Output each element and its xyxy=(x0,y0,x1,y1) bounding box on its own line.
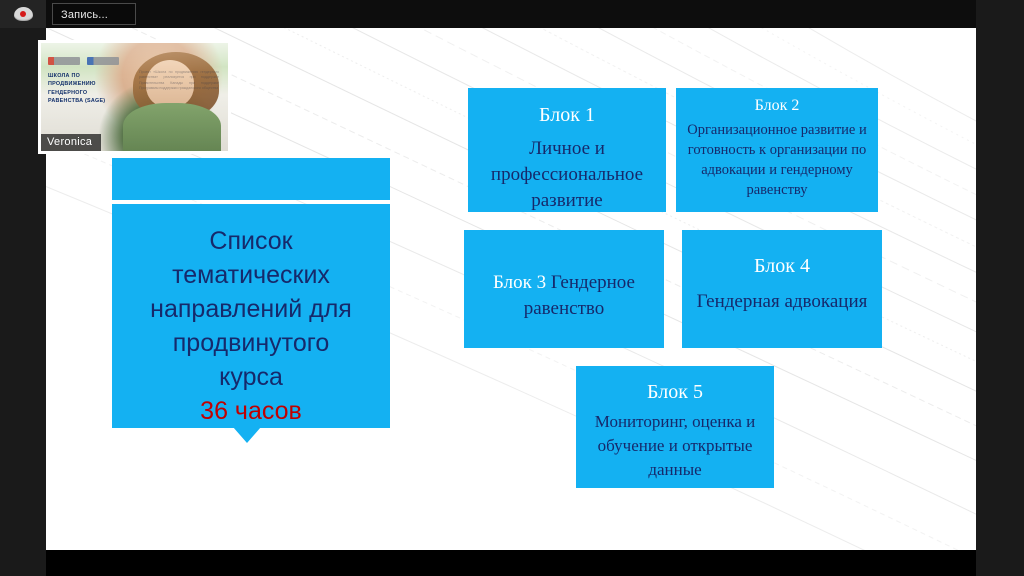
callout-line-3: направлений для xyxy=(150,295,352,323)
block-2-card: Блок 2 Организационное развитие и готовн… xyxy=(676,88,878,212)
participant-name-label: Veronica xyxy=(41,134,101,151)
block-5-text: Мониторинг, оценка и обучение и открытые… xyxy=(595,412,755,479)
shared-slide-body: Проект «Школа по продвижению гендерного … xyxy=(139,70,219,108)
callout-header-bar xyxy=(112,158,390,200)
block-2-text: Организационное развитие и готовность к … xyxy=(687,122,867,198)
canada-logo-icon xyxy=(48,57,80,65)
block-1-text: Личное и профессиональное развитие xyxy=(491,138,643,211)
sponsor-logos xyxy=(48,57,119,65)
block-3-card: Блок 3 Гендерное равенство xyxy=(464,230,664,348)
block-4-title: Блок 4 xyxy=(682,252,882,280)
webcam-video-tile[interactable]: ШКОЛА ПО ПРОДВИЖЕНИЮ ГЕНДЕРНОГО РАВЕНСТВ… xyxy=(38,40,231,154)
screen-share-window: Запись... xyxy=(0,0,1024,576)
callout-hours: 36 часов xyxy=(122,394,380,428)
block-5-card: Блок 5 Мониторинг, оценка и обучение и о… xyxy=(576,366,774,488)
block-5-title: Блок 5 xyxy=(576,380,774,404)
callout-box: Список тематических направлений для прод… xyxy=(112,204,390,428)
callout-line-4: продвинутого xyxy=(173,329,329,357)
callout-line-2: тематических xyxy=(172,261,330,289)
block-1-card: Блок 1 Личное и профессиональное развити… xyxy=(468,88,666,212)
block-1-title: Блок 1 xyxy=(468,102,666,128)
block-2-title: Блок 2 xyxy=(676,96,878,116)
window-top-band xyxy=(0,0,1024,28)
recording-status-label: Запись... xyxy=(52,3,136,25)
callout-line-1: Список xyxy=(209,227,292,255)
recording-indicator[interactable]: Запись... xyxy=(0,0,136,28)
callout-line-5: курса xyxy=(219,363,283,391)
window-right-chrome xyxy=(976,0,1024,576)
block-4-card: Блок 4 Гендерная адвокация xyxy=(682,230,882,348)
partner-logo-icon xyxy=(87,57,119,65)
shared-slide-title: ШКОЛА ПО ПРОДВИЖЕНИЮ ГЕНДЕРНОГО РАВЕНСТВ… xyxy=(48,72,122,106)
block-4-text: Гендерная адвокация xyxy=(697,291,868,312)
callout-tail xyxy=(233,427,261,443)
block-3-title: Блок 3 xyxy=(493,272,546,293)
record-dot-icon[interactable] xyxy=(0,0,46,28)
